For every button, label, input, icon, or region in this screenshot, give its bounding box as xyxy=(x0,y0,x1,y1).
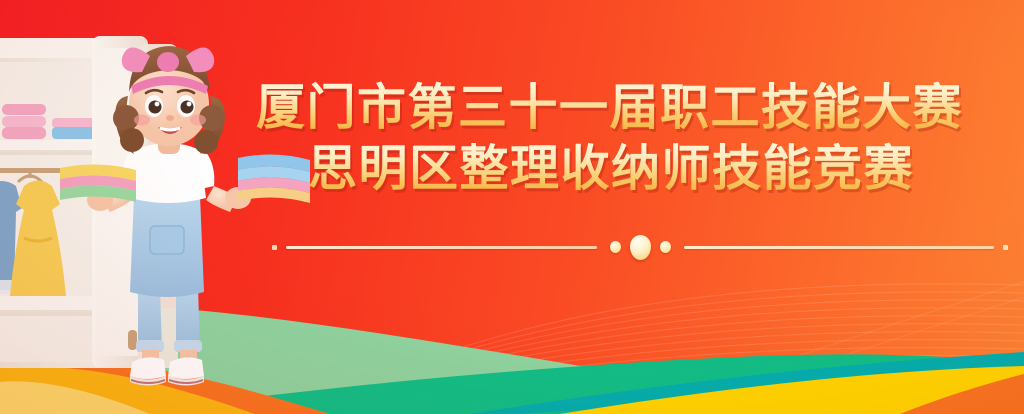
banner-title: 厦门市第三十一届职工技能大赛 思明区整理收纳师技能竞赛 xyxy=(250,78,1010,200)
promotional-banner: 厦门市第三十一届职工技能大赛 思明区整理收纳师技能竞赛 xyxy=(0,0,1024,414)
divider-ornament-group xyxy=(597,235,684,260)
divider-rule-left xyxy=(286,246,597,249)
divider-ornament-large xyxy=(630,235,651,260)
illustration-girl-with-wardrobe xyxy=(0,0,340,414)
divider-ornament-small-left xyxy=(610,241,621,253)
divider-rule-right xyxy=(684,246,995,249)
divider-ornament-small-right xyxy=(660,241,671,253)
divider-end-dot-left xyxy=(272,245,277,250)
towels-held-left xyxy=(60,164,136,202)
decorative-divider xyxy=(272,236,1008,258)
title-line-2: 思明区整理收纳师技能竞赛 xyxy=(250,139,1010,200)
divider-end-dot-right xyxy=(1003,245,1008,250)
title-line-1: 厦门市第三十一届职工技能大赛 xyxy=(250,78,1010,139)
